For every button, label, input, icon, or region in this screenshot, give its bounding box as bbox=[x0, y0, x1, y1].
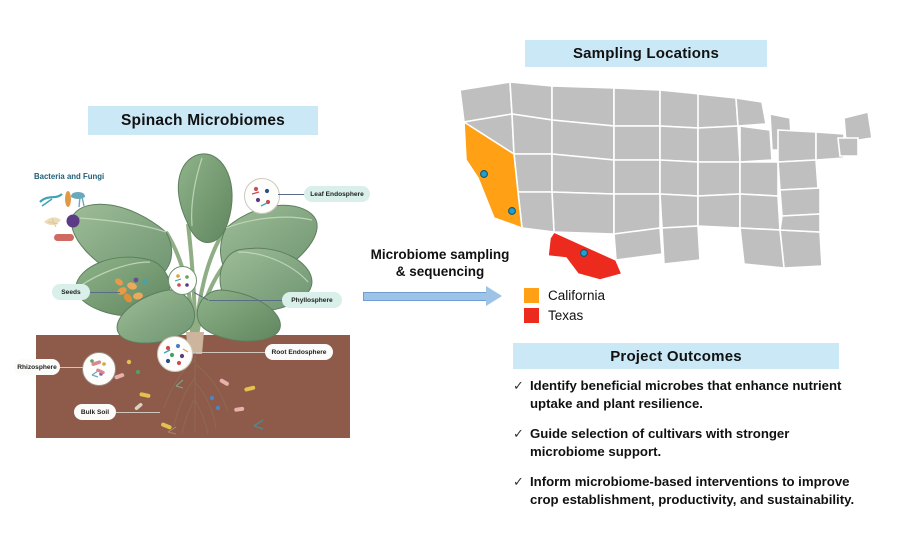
callout-leaf-endosphere[interactable]: Leaf Endosphere bbox=[304, 186, 370, 202]
state-ia bbox=[660, 126, 698, 162]
rhizosphere-zoom-circle bbox=[82, 352, 116, 386]
outcome-item-2: ✓ Guide selection of cultivars with stro… bbox=[513, 425, 858, 460]
state-ok bbox=[614, 228, 662, 260]
leader-seeds bbox=[88, 292, 120, 293]
callout-root-endosphere[interactable]: Root Endosphere bbox=[265, 344, 333, 360]
check-icon: ✓ bbox=[513, 425, 530, 460]
leader-root-endosphere bbox=[192, 352, 267, 353]
state-ky-e bbox=[740, 162, 778, 196]
spinach-illustration: Bacteria and Fungi bbox=[16, 140, 366, 450]
arrow-head-icon bbox=[486, 286, 502, 306]
state-az-nm bbox=[552, 192, 614, 234]
state-nv bbox=[514, 154, 552, 192]
state-al bbox=[740, 194, 780, 230]
microbe-legend-icons bbox=[36, 186, 106, 246]
state-wy bbox=[552, 120, 614, 160]
state-nd bbox=[614, 88, 660, 126]
leader-bulk-soil bbox=[116, 412, 160, 413]
leader-phyllosphere-b bbox=[209, 300, 282, 301]
callout-seeds[interactable]: Seeds bbox=[52, 284, 90, 300]
state-wi bbox=[698, 94, 738, 128]
state-ga bbox=[740, 228, 784, 268]
state-ne bbox=[614, 160, 660, 194]
callout-bulk-soil[interactable]: Bulk Soil bbox=[74, 404, 116, 420]
outcome-text-1: Identify beneficial microbes that enhanc… bbox=[530, 377, 858, 412]
legend-label-california: California bbox=[548, 288, 605, 303]
legend-swatch-texas bbox=[524, 308, 539, 323]
phyllosphere-zoom-circle bbox=[168, 266, 197, 295]
state-ar bbox=[660, 194, 698, 228]
sampling-marker-ca-north bbox=[481, 171, 488, 178]
outcome-item-1: ✓ Identify beneficial microbes that enha… bbox=[513, 377, 858, 412]
arrow-shaft bbox=[363, 292, 487, 301]
legend-item-texas: Texas bbox=[524, 308, 605, 323]
state-co-ut bbox=[552, 154, 614, 194]
leader-leaf-endosphere bbox=[278, 194, 305, 195]
state-sd bbox=[614, 126, 660, 160]
check-icon: ✓ bbox=[513, 377, 530, 412]
callout-phyllosphere[interactable]: Phyllosphere bbox=[282, 292, 342, 308]
project-outcomes-title: Project Outcomes bbox=[513, 343, 839, 369]
legend-item-california: California bbox=[524, 288, 605, 303]
state-fl bbox=[780, 230, 822, 268]
legend-swatch-california bbox=[524, 288, 539, 303]
outcome-item-3: ✓ Inform microbiome-based interventions … bbox=[513, 473, 858, 508]
outcome-text-2: Guide selection of cultivars with strong… bbox=[530, 425, 858, 460]
state-tn-ky bbox=[698, 162, 740, 196]
outcome-text-3: Inform microbiome-based interventions to… bbox=[530, 473, 858, 508]
project-outcomes-list: ✓ Identify beneficial microbes that enha… bbox=[513, 377, 858, 521]
us-map bbox=[448, 68, 900, 280]
state-ne-sm bbox=[838, 138, 858, 156]
state-mo bbox=[660, 160, 698, 196]
state-la bbox=[662, 226, 700, 264]
state-pa bbox=[778, 130, 816, 162]
bacteria-and-fungi-label: Bacteria and Fungi bbox=[34, 172, 104, 181]
sampling-marker-ca-south bbox=[509, 208, 516, 215]
callout-rhizosphere[interactable]: Rhizosphere bbox=[14, 359, 60, 375]
state-ks bbox=[614, 194, 660, 234]
state-va-wv bbox=[778, 160, 818, 190]
spinach-microbiomes-title: Spinach Microbiomes bbox=[88, 106, 318, 135]
legend-label-texas: Texas bbox=[548, 308, 583, 323]
state-il bbox=[698, 126, 740, 162]
state-mi-up bbox=[736, 98, 766, 126]
check-icon: ✓ bbox=[513, 473, 530, 508]
sampling-locations-title: Sampling Locations bbox=[525, 40, 767, 67]
root-endosphere-zoom-circle bbox=[157, 336, 193, 372]
state-mn bbox=[660, 90, 700, 128]
state-ms bbox=[698, 194, 740, 228]
state-nv-s bbox=[518, 192, 554, 232]
state-mt bbox=[552, 86, 614, 126]
state-nc bbox=[780, 188, 820, 216]
state-id-s bbox=[512, 114, 552, 154]
map-legend: California Texas bbox=[524, 288, 605, 328]
sampling-marker-tx bbox=[581, 250, 588, 257]
state-in-oh bbox=[740, 126, 772, 162]
leader-rhizosphere bbox=[56, 367, 83, 368]
leaf-endosphere-zoom-circle bbox=[244, 178, 280, 214]
state-sc bbox=[780, 214, 820, 232]
